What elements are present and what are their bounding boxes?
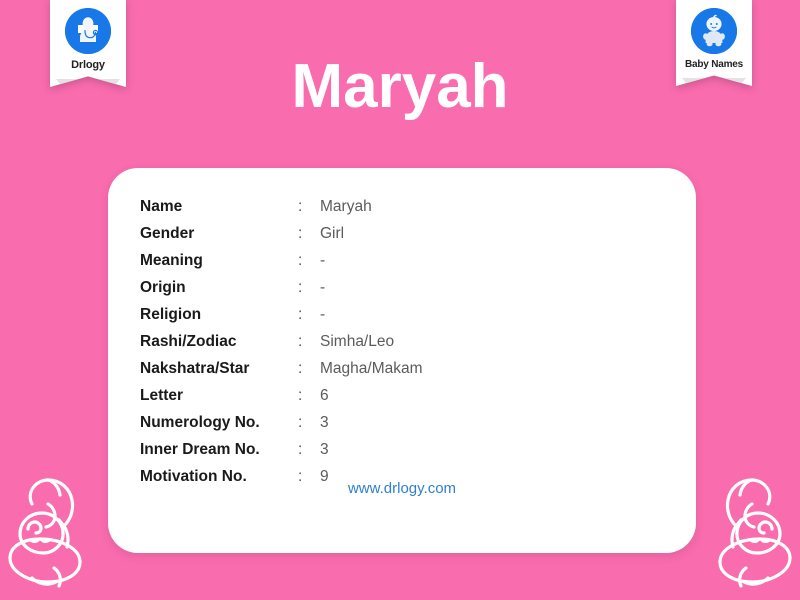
table-row: Rashi/Zodiac : Simha/Leo bbox=[140, 328, 423, 355]
row-separator: : bbox=[298, 274, 320, 301]
row-value: 3 bbox=[320, 436, 423, 463]
row-separator: : bbox=[298, 409, 320, 436]
baby-icon bbox=[691, 8, 737, 54]
name-info-table: Name : Maryah Gender : Girl Meaning : - … bbox=[140, 193, 423, 490]
row-separator: : bbox=[298, 301, 320, 328]
row-value: - bbox=[320, 274, 423, 301]
row-label: Rashi/Zodiac bbox=[140, 328, 298, 355]
row-label: Name bbox=[140, 193, 298, 220]
row-separator: : bbox=[298, 436, 320, 463]
row-value: 3 bbox=[320, 409, 423, 436]
row-label: Origin bbox=[140, 274, 298, 301]
row-value: - bbox=[320, 247, 423, 274]
row-value: - bbox=[320, 301, 423, 328]
row-value: Simha/Leo bbox=[320, 328, 423, 355]
table-row: Name : Maryah bbox=[140, 193, 423, 220]
row-separator: : bbox=[298, 220, 320, 247]
website-link[interactable]: www.drlogy.com bbox=[108, 480, 696, 497]
row-label: Letter bbox=[140, 382, 298, 409]
mother-baby-outline-left bbox=[2, 474, 98, 594]
row-value: Maryah bbox=[320, 193, 423, 220]
table-row: Religion : - bbox=[140, 301, 423, 328]
row-label: Gender bbox=[140, 220, 298, 247]
table-row: Letter : 6 bbox=[140, 382, 423, 409]
table-row: Meaning : - bbox=[140, 247, 423, 274]
row-label: Numerology No. bbox=[140, 409, 298, 436]
row-label: Religion bbox=[140, 301, 298, 328]
row-value: Magha/Makam bbox=[320, 355, 423, 382]
table-row: Nakshatra/Star : Magha/Makam bbox=[140, 355, 423, 382]
row-label: Inner Dream No. bbox=[140, 436, 298, 463]
table-row: Numerology No. : 3 bbox=[140, 409, 423, 436]
name-detail-card: Name : Maryah Gender : Girl Meaning : - … bbox=[108, 168, 696, 553]
row-separator: : bbox=[298, 355, 320, 382]
row-separator: : bbox=[298, 247, 320, 274]
baby-glyph bbox=[691, 8, 737, 54]
doctor-stethoscope-icon bbox=[65, 8, 111, 54]
page-title: Maryah bbox=[0, 56, 800, 118]
table-row: Inner Dream No. : 3 bbox=[140, 436, 423, 463]
row-label: Meaning bbox=[140, 247, 298, 274]
table-row: Origin : - bbox=[140, 274, 423, 301]
table-row: Gender : Girl bbox=[140, 220, 423, 247]
row-separator: : bbox=[298, 328, 320, 355]
row-value: 6 bbox=[320, 382, 423, 409]
mother-baby-outline-right bbox=[702, 474, 798, 594]
doctor-stethoscope-glyph bbox=[65, 8, 111, 54]
row-separator: : bbox=[298, 382, 320, 409]
row-label: Nakshatra/Star bbox=[140, 355, 298, 382]
name-info-table-body: Name : Maryah Gender : Girl Meaning : - … bbox=[140, 193, 423, 490]
row-value: Girl bbox=[320, 220, 423, 247]
row-separator: : bbox=[298, 193, 320, 220]
